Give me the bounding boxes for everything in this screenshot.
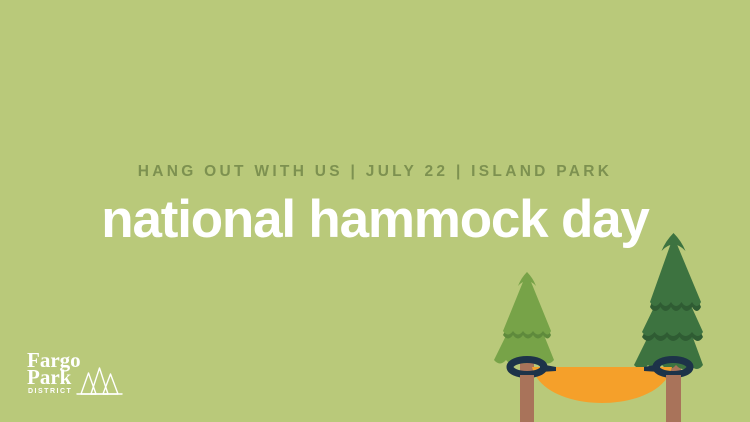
event-details-line: HANG OUT WITH US | JULY 22 | ISLAND PARK (0, 163, 750, 181)
logo-text-district: DISTRICT (28, 388, 72, 395)
right-tree-tier-upper (650, 236, 701, 306)
poster-canvas: HANG OUT WITH US | JULY 22 | ISLAND PARK… (0, 0, 750, 422)
left-tree-tier-upper (503, 272, 551, 335)
logo-pine-trees-icon (77, 368, 122, 394)
hammock (532, 367, 672, 403)
hammock-scene-illustration (470, 215, 750, 422)
logo-text-park: Park (27, 365, 72, 389)
logo-tree-middle (91, 368, 108, 394)
right-tree-trunk-lower (666, 375, 681, 422)
illustration-svg (470, 215, 750, 422)
fargo-park-district-logo[interactable]: Fargo Park DISTRICT (27, 348, 127, 402)
hammock-fabric (532, 367, 672, 403)
left-rope-connector (540, 364, 556, 372)
logo-svg: Fargo Park DISTRICT (27, 348, 127, 402)
left-tree-trunk-lower (520, 375, 534, 422)
